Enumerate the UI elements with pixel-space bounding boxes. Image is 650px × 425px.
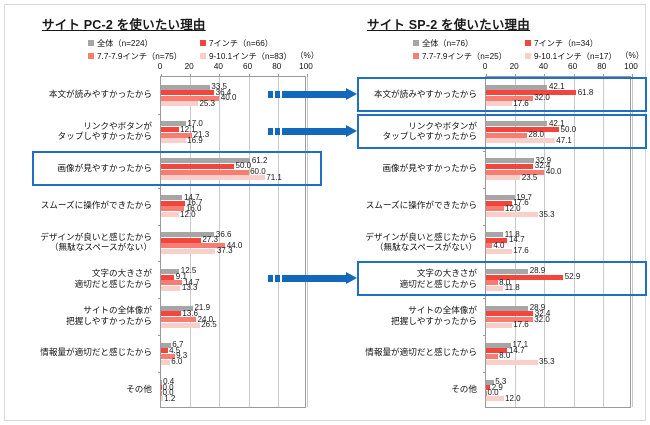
axis-tick-mark: [486, 74, 487, 77]
legend-label: 7インチ（n=66）: [209, 37, 273, 49]
left-unit-label: （%）: [295, 49, 319, 61]
category-label-line: スムーズに操作ができたから: [366, 200, 477, 211]
bar[interactable]: [161, 90, 214, 95]
category-tick-mark: [483, 225, 486, 226]
arrow-head-icon: [346, 88, 357, 100]
category-label: サイトの全体像が把握しやすかったから: [391, 305, 477, 326]
category-label: デザインが良いと感じたから（無駄なスペースがない）: [40, 232, 152, 253]
bar-value-label: 11.8: [505, 284, 520, 292]
legend-swatch-icon: [525, 53, 531, 59]
category-label: その他: [126, 384, 152, 395]
legend-item[interactable]: 全体（n=76）: [413, 37, 525, 49]
category-label: デザインが良いと感じたから（無駄なスペースがない）: [365, 232, 477, 253]
category-label: 本文が読みやすかったから: [49, 89, 152, 100]
category-label-line: 把握しやすかったから: [66, 316, 152, 327]
category-label: 情報量が適切だと感じたから: [40, 347, 152, 358]
legend-label: 全体（n=76）: [422, 37, 473, 49]
bar[interactable]: [486, 133, 527, 138]
legend-swatch-icon: [525, 40, 531, 46]
bar-value-label: 25.3: [199, 100, 215, 108]
bar-value-label: 32.0: [534, 316, 550, 324]
bar-group: 17.114.78.035.3: [486, 343, 630, 365]
category-label-line: 情報量が適切だと感じたから: [365, 347, 477, 358]
axis-tick-label: 0: [483, 62, 488, 71]
bar-value-label: 17.6: [513, 247, 529, 255]
bar-group: 28.932.432.017.6: [486, 306, 630, 328]
legend-label: 7.7-7.9インチ（n=75）: [97, 50, 182, 62]
bar[interactable]: [486, 396, 504, 401]
category-tick-mark: [158, 335, 161, 336]
arrow-segment: [282, 275, 346, 282]
legend-item[interactable]: 全体（n=224）: [88, 37, 200, 49]
bar[interactable]: [161, 317, 196, 322]
axis-tick-mark: [603, 74, 604, 77]
bar[interactable]: [486, 391, 487, 396]
bar-value-label: 16.9: [187, 137, 203, 145]
right-chart-title: サイト SP-2 を使いたい理由: [367, 14, 530, 33]
arrow-segment: [282, 128, 346, 135]
bar[interactable]: [486, 138, 555, 143]
bar[interactable]: [486, 360, 538, 365]
bar-group: 11.814.74.017.6: [486, 232, 630, 254]
bar[interactable]: [161, 164, 234, 169]
bar-group: 0.40.00.01.2: [161, 380, 305, 402]
category-tick-mark: [158, 114, 161, 115]
bar-group: 28.952.98.011.8: [486, 269, 630, 291]
bar-value-label: 47.1: [556, 137, 572, 145]
category-label: リンクやボタンがタップしやすかったから: [58, 121, 152, 142]
legend-item[interactable]: 7インチ（n=34）: [525, 37, 635, 49]
left-chart-panel: サイト PC-2 を使いたい理由 （%） 全体（n=224）7インチ（n=66）…: [0, 0, 325, 425]
bar[interactable]: [161, 396, 163, 401]
axis-tick-mark: [515, 74, 516, 77]
left-category-labels: 本文が読みやすかったからリンクやボタンがタップしやすかったから画像が見やすかった…: [4, 76, 156, 408]
category-tick-mark: [158, 225, 161, 226]
bar-group: 19.717.612.035.3: [486, 195, 630, 217]
bar[interactable]: [161, 280, 182, 285]
arrow-link-button: [268, 125, 357, 138]
axis-tick-mark: [219, 74, 220, 77]
right-plot-area: 42.161.832.017.642.150.028.047.132.932.4…: [485, 76, 631, 408]
category-label-line: 文字の大きさが: [75, 268, 152, 279]
bar-value-label: 36.6: [216, 231, 232, 239]
category-label-line: タップしやすかったから: [383, 131, 477, 142]
legend-item[interactable]: 9-10.1インチ（n=17）: [525, 50, 635, 62]
category-label: サイトの全体像が把握しやすかったから: [66, 305, 152, 326]
category-label-line: スムーズに操作ができたから: [41, 200, 152, 211]
bar[interactable]: [161, 201, 185, 206]
arrow-segment: [268, 91, 273, 98]
bar-value-label: 14.7: [509, 236, 525, 244]
bar-value-label: 12.0: [180, 211, 196, 219]
bar[interactable]: [161, 348, 168, 353]
category-label-line: その他: [126, 384, 152, 395]
bar[interactable]: [486, 311, 533, 316]
bar[interactable]: [486, 85, 547, 90]
legend-item[interactable]: 9-10.1インチ（n=83）: [200, 50, 310, 62]
category-label-line: （無駄なスペースがない）: [365, 242, 477, 253]
category-tick-mark: [483, 335, 486, 336]
category-tick-mark: [158, 372, 161, 373]
legend-item[interactable]: 7インチ（n=66）: [200, 37, 310, 49]
bar-group: 6.74.59.36.0: [161, 343, 305, 365]
category-label-line: タップしやすかったから: [58, 131, 152, 142]
bar-value-label: 6.0: [171, 358, 182, 366]
category-tick-mark: [483, 372, 486, 373]
axis-tick-label: 80: [272, 62, 281, 71]
bar[interactable]: [161, 311, 181, 316]
left-chart-title: サイト PC-2 を使いたい理由: [42, 14, 206, 33]
legend-swatch-icon: [88, 40, 94, 46]
bar[interactable]: [161, 385, 162, 390]
arrow-segment: [268, 275, 273, 282]
axis-tick-label: 100: [299, 62, 313, 71]
legend-item[interactable]: 7.7-7.9インチ（n=25）: [413, 50, 525, 62]
bar[interactable]: [161, 391, 162, 396]
bar[interactable]: [486, 243, 492, 248]
category-label-line: （無駄なスペースがない）: [40, 242, 152, 253]
bar[interactable]: [161, 85, 210, 90]
bar[interactable]: [486, 286, 503, 291]
category-tick-mark: [483, 151, 486, 152]
category-tick-mark: [483, 188, 486, 189]
bar[interactable]: [161, 243, 225, 248]
bar-value-label: 1.2: [164, 395, 175, 403]
bar[interactable]: [486, 249, 512, 254]
legend-row: 全体（n=76）7インチ（n=34）: [413, 36, 648, 49]
bar-group: 5.32.90.012.0: [486, 380, 630, 402]
bar-value-label: 52.9: [565, 273, 581, 281]
bar-group: 42.161.832.017.6: [486, 85, 630, 107]
bar[interactable]: [486, 212, 538, 217]
category-label: その他: [451, 384, 477, 395]
axis-tick-mark: [574, 74, 575, 77]
bar-group: 36.627.344.037.3: [161, 232, 305, 254]
bar-group: 42.150.028.047.1: [486, 121, 630, 143]
bar[interactable]: [486, 121, 547, 126]
category-label-line: サイトの全体像が: [66, 305, 152, 316]
category-label: 本文が読みやすかったから: [374, 89, 477, 100]
category-label: 文字の大きさが適切だと感じたから: [75, 268, 152, 289]
bar-value-label: 35.3: [539, 211, 555, 219]
bar[interactable]: [161, 212, 179, 217]
arrow-honbun: [268, 88, 357, 101]
axis-tick-mark: [544, 74, 545, 77]
bar[interactable]: [161, 101, 198, 106]
arrow-moji-ookisa: [268, 272, 357, 285]
category-label: 文字の大きさが適切だと感じたから: [400, 268, 477, 289]
legend-row: 7.7-7.9インチ（n=25）9-10.1インチ（n=17）: [413, 49, 648, 62]
bar[interactable]: [161, 170, 249, 175]
bar[interactable]: [161, 138, 186, 143]
left-axis-tick-labels: 020406080100: [0, 62, 325, 73]
bar-value-label: 71.1: [266, 174, 282, 182]
bar-value-label: 37.3: [217, 247, 233, 255]
category-label-line: 適切だと感じたから: [75, 279, 152, 290]
bar[interactable]: [486, 306, 528, 311]
bar[interactable]: [486, 101, 512, 106]
category-tick-mark: [483, 261, 486, 262]
bar[interactable]: [486, 195, 515, 200]
arrow-segment: [282, 91, 346, 98]
arrow-segment: [268, 128, 273, 135]
category-label-line: 本文が読みやすかったから: [374, 89, 477, 100]
bar[interactable]: [161, 275, 174, 280]
category-label-line: デザインが良いと感じたから: [365, 232, 477, 243]
right-axis-tick-labels: 020406080100: [325, 62, 650, 73]
bar[interactable]: [486, 158, 534, 163]
bar[interactable]: [161, 360, 170, 365]
category-label-line: その他: [451, 384, 477, 395]
bar[interactable]: [486, 232, 503, 237]
category-label-line: 画像が見やすかったから: [57, 163, 152, 174]
category-label: スムーズに操作ができたから: [41, 200, 152, 211]
category-label-line: 本文が読みやすかったから: [49, 89, 152, 100]
legend-label: 9-10.1インチ（n=83）: [209, 50, 292, 62]
bar[interactable]: [161, 286, 180, 291]
legend-label: 7.7-7.9インチ（n=25）: [422, 50, 507, 62]
bar-value-label: 14.7: [509, 347, 525, 355]
category-label-line: 適切だと感じたから: [400, 279, 477, 290]
chart-page: サイト PC-2 を使いたい理由 （%） 全体（n=224）7インチ（n=66）…: [0, 0, 650, 425]
bar-value-label: 12.0: [505, 395, 521, 403]
category-label-line: リンクやボタンが: [58, 121, 152, 132]
axis-tick-mark: [249, 74, 250, 77]
axis-tick-mark: [161, 74, 162, 77]
axis-tick-label: 60: [243, 62, 252, 71]
bar-value-label: 17.6: [513, 100, 529, 108]
bar[interactable]: [161, 249, 215, 254]
bar[interactable]: [486, 90, 576, 95]
axis-tick-label: 60: [568, 62, 577, 71]
category-label: 画像が見やすかったから: [382, 163, 477, 174]
arrow-segment: [275, 275, 280, 282]
arrow-segment: [275, 91, 280, 98]
legend-swatch-icon: [88, 53, 94, 59]
bar[interactable]: [486, 280, 498, 285]
bar-value-label: 35.3: [539, 358, 555, 366]
bar-value-label: 61.8: [578, 89, 594, 97]
bar[interactable]: [486, 269, 528, 274]
legend-label: 全体（n=224）: [97, 37, 153, 49]
category-tick-mark: [483, 114, 486, 115]
bar[interactable]: [486, 354, 498, 359]
bar[interactable]: [486, 275, 563, 280]
bar-value-label: 40.0: [221, 94, 237, 102]
category-label-line: 画像が見やすかったから: [382, 163, 477, 174]
bar[interactable]: [486, 175, 520, 180]
category-tick-mark: [158, 151, 161, 152]
axis-tick-label: 40: [214, 62, 223, 71]
category-tick-mark: [483, 298, 486, 299]
bar[interactable]: [161, 238, 201, 243]
bar[interactable]: [161, 175, 265, 180]
bar[interactable]: [161, 195, 182, 200]
axis-tick-label: 80: [597, 62, 606, 71]
bar-group: 61.250.060.071.1: [161, 158, 305, 180]
category-tick-mark: [158, 298, 161, 299]
category-label-line: 情報量が適切だと感じたから: [40, 347, 152, 358]
bar-value-label: 32.0: [534, 94, 550, 102]
bar-value-label: 13.3: [182, 284, 198, 292]
bar-value-label: 17.6: [513, 321, 529, 329]
bar-value-label: 50.0: [561, 126, 577, 134]
bar[interactable]: [161, 380, 162, 385]
axis-tick-label: 40: [539, 62, 548, 71]
category-label: スムーズに操作ができたから: [366, 200, 477, 211]
bar-value-label: 40.0: [546, 168, 562, 176]
category-tick-mark: [158, 188, 161, 189]
arrow-head-icon: [346, 272, 357, 284]
bar-value-label: 23.5: [522, 174, 538, 182]
legend-swatch-icon: [200, 53, 206, 59]
axis-tick-label: 20: [510, 62, 519, 71]
category-label: リンクやボタンがタップしやすかったから: [383, 121, 477, 142]
legend-label: 9-10.1インチ（n=17）: [534, 50, 617, 62]
left-legend: （%） 全体（n=224）7インチ（n=66）7.7-7.9インチ（n=75）9…: [88, 36, 323, 62]
arrow-head-icon: [346, 125, 357, 137]
axis-tick-label: 20: [185, 62, 194, 71]
legend-label: 7インチ（n=34）: [534, 37, 598, 49]
category-label-line: リンクやボタンが: [383, 121, 477, 132]
right-unit-label: （%）: [620, 49, 644, 61]
legend-swatch-icon: [413, 40, 419, 46]
bar-value-label: 26.5: [201, 321, 217, 329]
gridline: [632, 77, 633, 407]
category-label-line: 把握しやすかったから: [391, 316, 477, 327]
bar-group: 32.932.440.023.5: [486, 158, 630, 180]
bar-value-label: 61.2: [252, 157, 268, 165]
axis-tick-mark: [190, 74, 191, 77]
category-label: 情報量が適切だと感じたから: [365, 347, 477, 358]
category-label-line: デザインが良いと感じたから: [40, 232, 152, 243]
category-label-line: サイトの全体像が: [391, 305, 477, 316]
legend-item[interactable]: 7.7-7.9インチ（n=75）: [88, 50, 200, 62]
category-tick-mark: [158, 261, 161, 262]
bar[interactable]: [486, 323, 512, 328]
axis-tick-label: 100: [624, 62, 638, 71]
legend-swatch-icon: [200, 40, 206, 46]
bar[interactable]: [161, 127, 179, 132]
legend-row: 7.7-7.9インチ（n=75）9-10.1インチ（n=83）: [88, 49, 323, 62]
axis-tick-mark: [632, 74, 633, 77]
legend-row: 全体（n=224）7インチ（n=66）: [88, 36, 323, 49]
bar-group: 21.913.624.026.5: [161, 306, 305, 328]
axis-tick-mark: [278, 74, 279, 77]
right-legend: （%） 全体（n=76）7インチ（n=34）7.7-7.9インチ（n=25）9-…: [413, 36, 648, 62]
right-chart-panel: サイト SP-2 を使いたい理由 （%） 全体（n=76）7インチ（n=34）7…: [325, 0, 650, 425]
bar[interactable]: [486, 206, 504, 211]
arrow-segment: [275, 128, 280, 135]
bar[interactable]: [161, 323, 200, 328]
category-label-line: 文字の大きさが: [400, 268, 477, 279]
category-label: 画像が見やすかったから: [57, 163, 152, 174]
bar[interactable]: [486, 164, 533, 169]
legend-swatch-icon: [413, 53, 419, 59]
bar[interactable]: [486, 343, 511, 348]
bar[interactable]: [486, 127, 559, 132]
axis-tick-mark: [307, 74, 308, 77]
axis-tick-label: 0: [158, 62, 163, 71]
bar-group: 14.716.716.012.0: [161, 195, 305, 217]
